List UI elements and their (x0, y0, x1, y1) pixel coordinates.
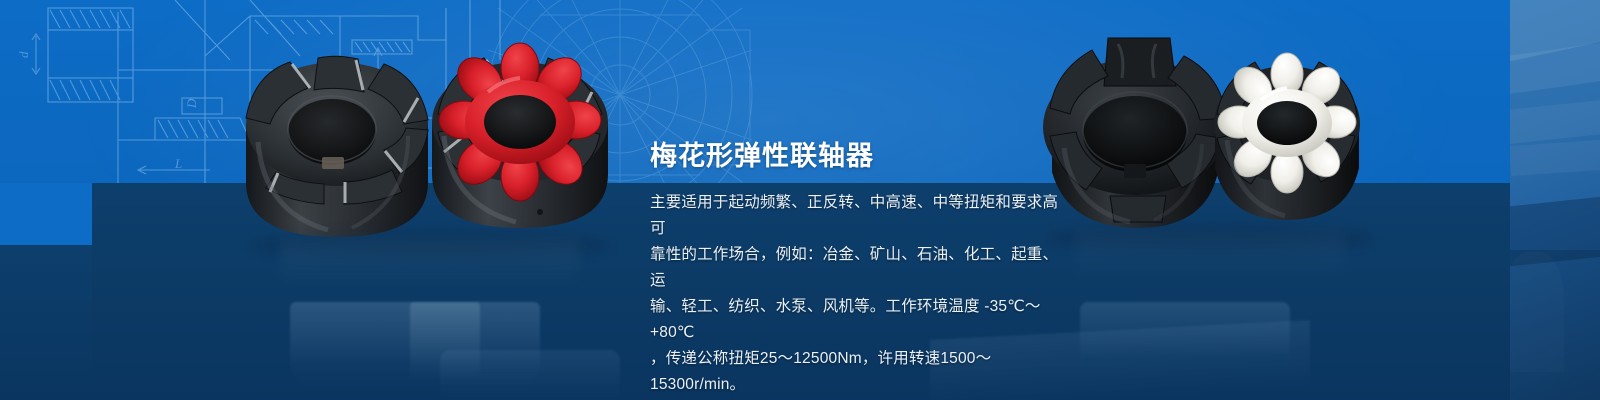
left-product-reflection (280, 240, 580, 288)
reflection-shape-c (1080, 302, 1290, 382)
description-line-1: 主要适用于起动频繁、正反转、中高速、中等扭矩和要求高可 (650, 190, 1070, 242)
page-title: 梅花形弹性联轴器 (650, 138, 1070, 174)
right-machinery-panel (1510, 0, 1600, 400)
product-right-white-spider-coupling (1205, 28, 1370, 228)
product-left-black-coupling (232, 32, 442, 247)
panel-shape-3 (1510, 97, 1600, 144)
product-left-red-spider-coupling (420, 22, 620, 237)
right-product-reflection (1075, 232, 1345, 282)
product-banner: L L 0 L L d D D (0, 0, 1600, 400)
description-line-3: 输、轻工、纺织、水泵、风机等。工作环境温度 -35℃～+80℃ (650, 294, 1070, 346)
reflection-shape-e (440, 350, 620, 400)
description-line-2: 靠性的工作场合，例如：冶金、矿山、石油、化工、起重、运 (650, 242, 1070, 294)
banner-text-block: 梅花形弹性联轴器 主要适用于起动频繁、正反转、中高速、中等扭矩和要求高可 靠性的… (650, 138, 1070, 398)
description-line-4: ，传递公称扭矩25～12500Nm，许用转速1500～15300r/min。 (650, 346, 1070, 398)
panel-shape-4 (1510, 138, 1600, 176)
panel-shape-7 (1510, 252, 1564, 372)
banner-description: 主要适用于起动频繁、正反转、中高速、中等扭矩和要求高可 靠性的工作场合，例如：冶… (650, 190, 1070, 398)
